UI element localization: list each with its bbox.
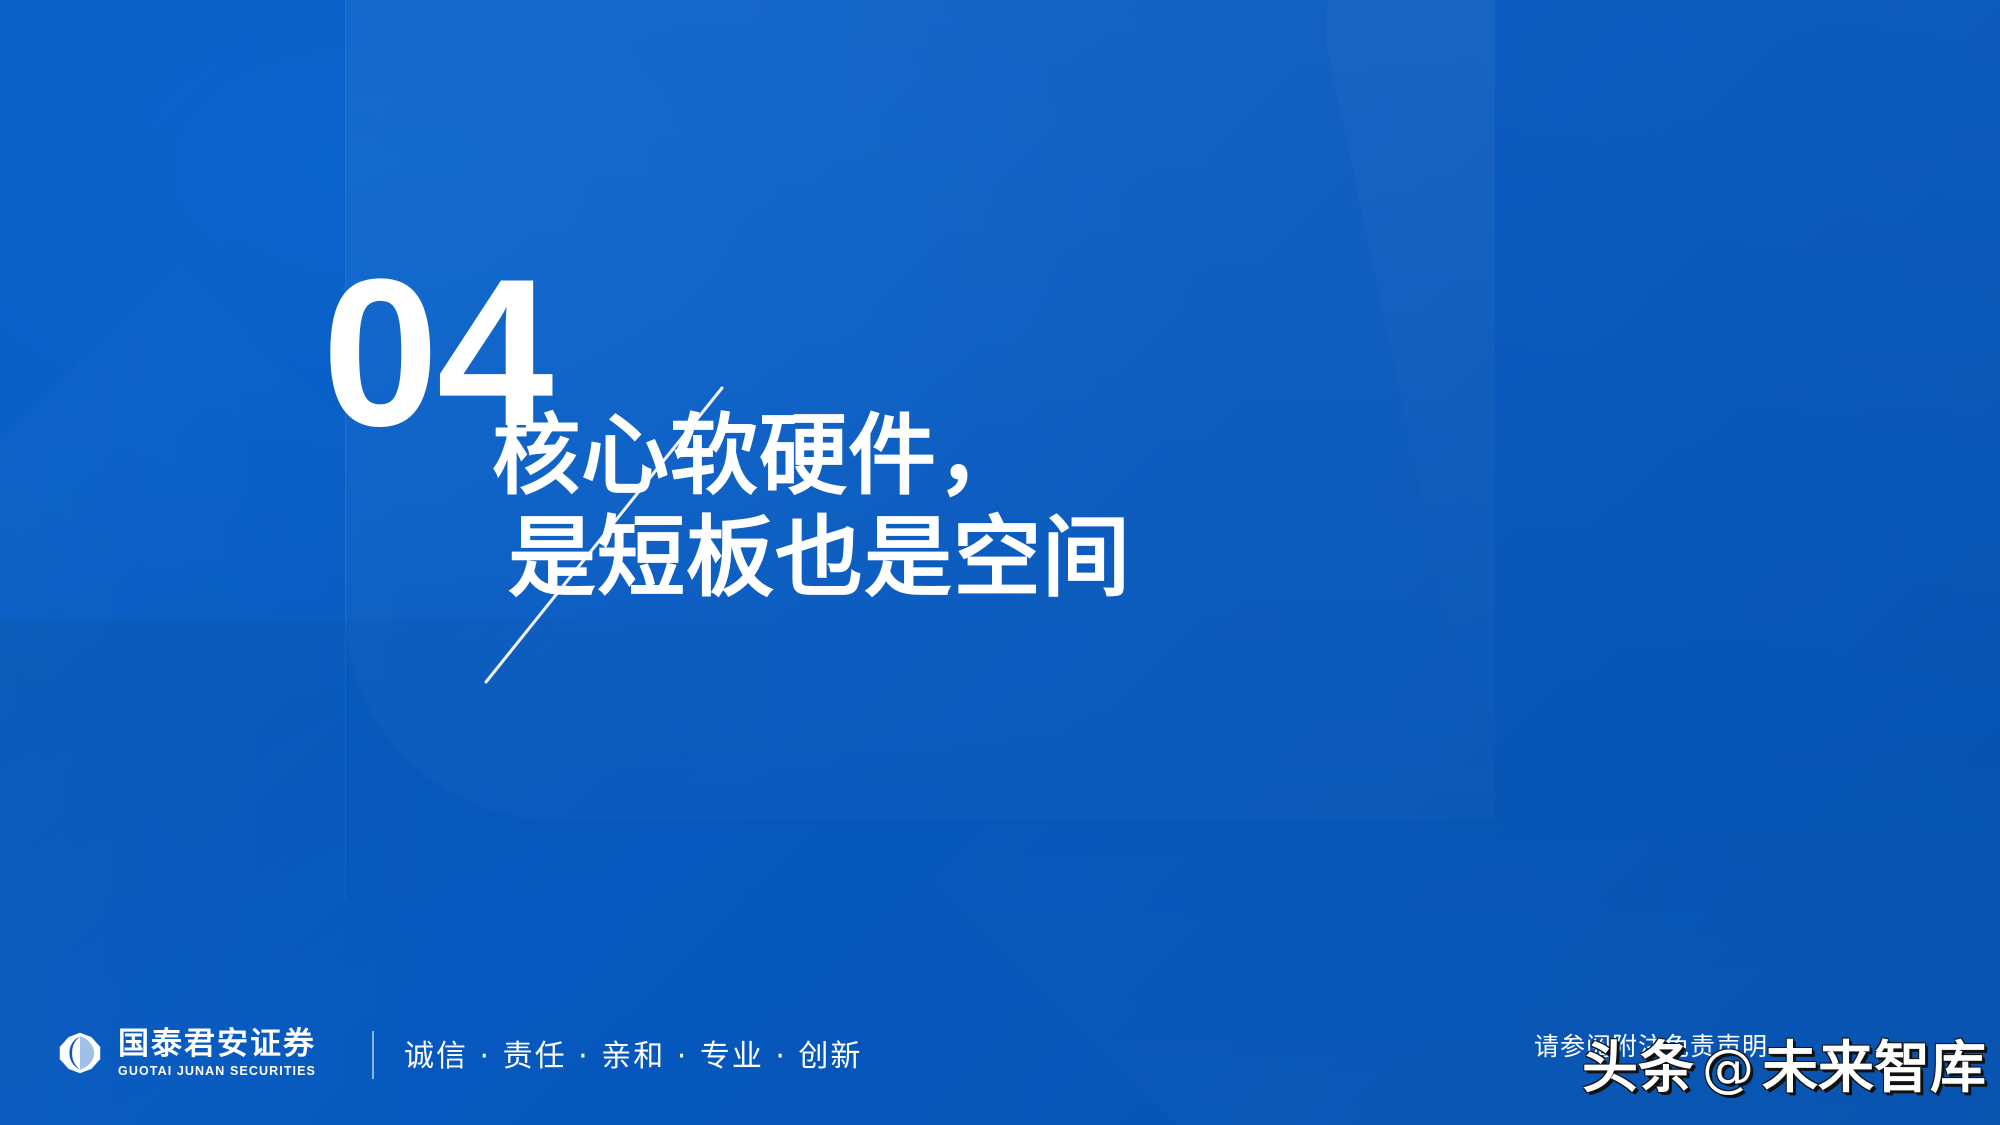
footer-divider: [372, 1031, 374, 1079]
brand-words: 国泰君安证券 GUOTAI JUNAN SECURITIES: [118, 1029, 316, 1078]
watermark-account: 未来智库: [1762, 1041, 1986, 1097]
brand-name-cn: 国泰君安证券: [118, 1029, 316, 1060]
source-watermark: 头条 @ 未来智库: [1582, 1041, 1986, 1097]
section-title-line-2: 是短板也是空间: [492, 507, 1592, 609]
watermark-at-icon: @: [1702, 1043, 1754, 1095]
brand-lockup: 国泰君安证券 GUOTAI JUNAN SECURITIES: [58, 1029, 316, 1078]
brand-name-en: GUOTAI JUNAN SECURITIES: [118, 1065, 316, 1078]
watermark-source: 头条: [1582, 1041, 1694, 1097]
brand-tagline: 诚信 · 责任 · 亲和 · 专业 · 创新: [404, 1031, 862, 1075]
presentation-section-divider-slide: 04 核心软硬件， 是短板也是空间 国泰君安证券 GUOTAI JUNAN SE…: [0, 0, 2000, 1125]
slide-footer: 国泰君安证券 GUOTAI JUNAN SECURITIES 诚信 · 责任 ·…: [0, 975, 2000, 1125]
guotai-junan-logo-mark-icon: [58, 1031, 102, 1075]
section-title: 核心软硬件， 是短板也是空间: [492, 405, 1592, 609]
section-title-line-1: 核心软硬件，: [492, 405, 1592, 507]
